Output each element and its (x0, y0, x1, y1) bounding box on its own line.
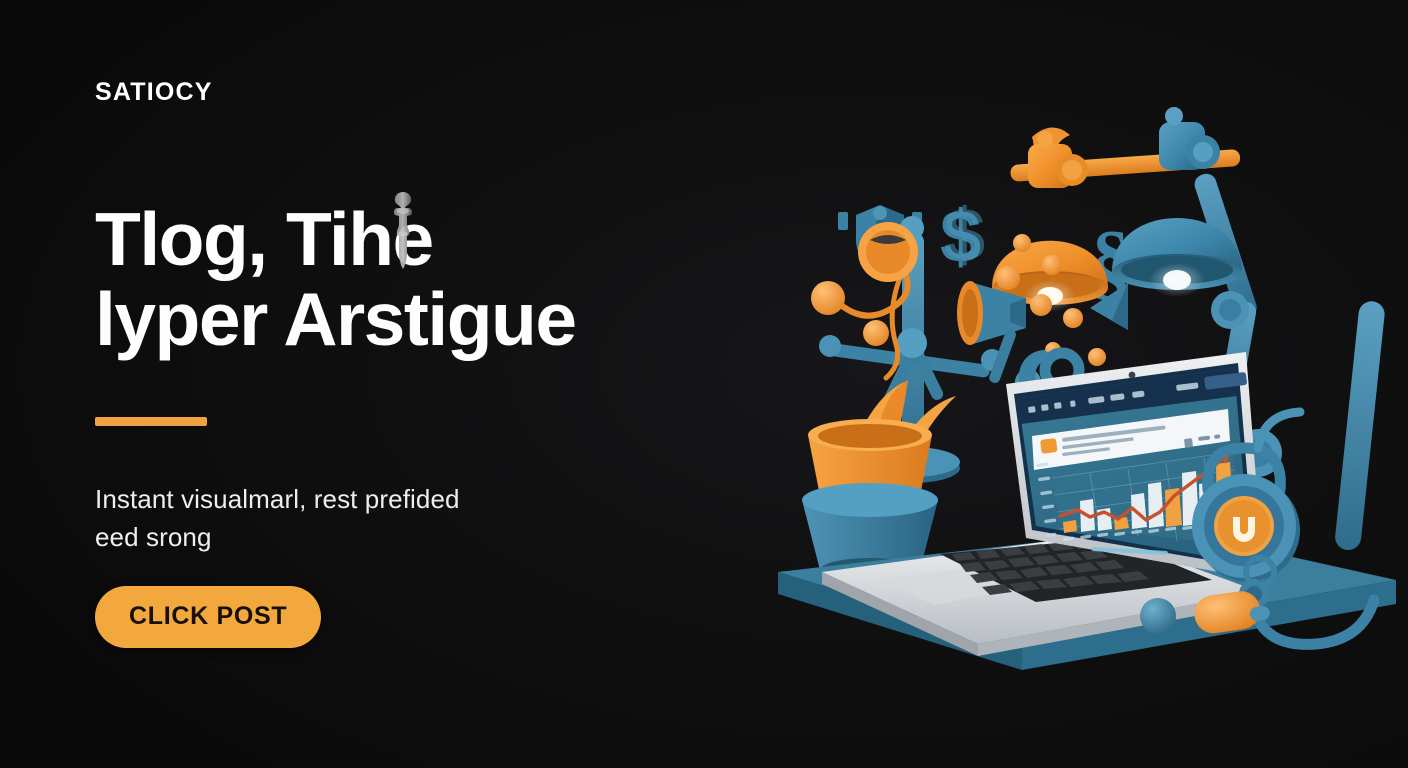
brand-logo-text: SATIOCY (95, 80, 735, 105)
subheading-line-1: Instant visualmarl, rest prefided (95, 484, 460, 514)
headline-line-2: lyper Arstigue (95, 280, 735, 360)
blue-pole (1334, 300, 1386, 551)
figurine-icon (388, 190, 418, 270)
subheading: Instant visualmarl, rest prefided eed sr… (95, 481, 635, 556)
subheading-line-2: eed srong (95, 522, 212, 552)
accent-divider (95, 417, 207, 426)
page-title: Tlog, Tihe lyper Arstigue (95, 200, 735, 359)
svg-text:$: $ (944, 193, 985, 276)
blue-sphere (1140, 598, 1176, 634)
copy-block: SATIOCY Tlog, Tihe lyper Arstigue (95, 80, 735, 648)
hero-illustration: $ $ § (760, 60, 1408, 710)
hero-banner: SATIOCY Tlog, Tihe lyper Arstigue (0, 0, 1408, 768)
blue-dollar-sign: $ $ (940, 193, 985, 278)
headline-line-1: Tlog, Tihe (95, 197, 433, 281)
click-post-button[interactable]: CLICK POST (95, 586, 321, 648)
